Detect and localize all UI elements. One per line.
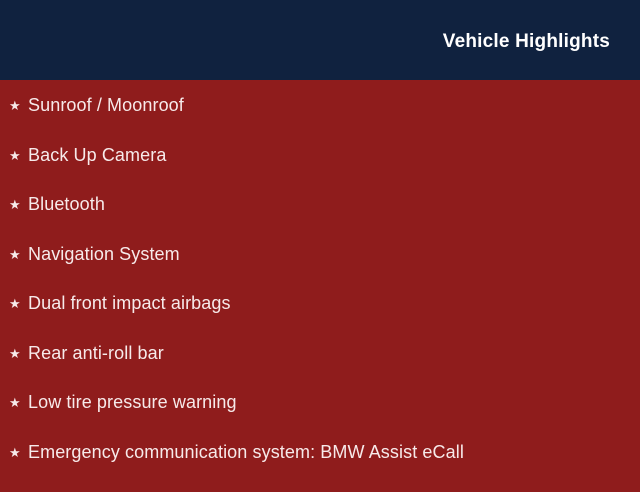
star-bullet-icon: ★ (9, 248, 28, 261)
star-bullet-icon: ★ (9, 198, 28, 211)
list-item: ★ Navigation System (0, 245, 640, 295)
highlight-label: Rear anti-roll bar (28, 344, 164, 362)
highlight-label: Emergency communication system: BMW Assi… (28, 443, 464, 461)
highlight-label: Sunroof / Moonroof (28, 96, 184, 114)
highlight-label: Dual front impact airbags (28, 294, 231, 312)
list-item: ★ Rear anti-roll bar (0, 344, 640, 394)
highlight-label: Back Up Camera (28, 146, 166, 164)
list-item: ★ Low tire pressure warning (0, 393, 640, 443)
highlight-label: Bluetooth (28, 195, 105, 213)
list-item: ★ Bluetooth (0, 195, 640, 245)
page-title: Vehicle Highlights (443, 32, 610, 51)
highlight-label: Navigation System (28, 245, 180, 263)
list-item: ★ Sunroof / Moonroof (0, 96, 640, 146)
star-bullet-icon: ★ (9, 347, 28, 360)
slide-header: Vehicle Highlights (0, 0, 640, 80)
vehicle-highlights-slide: Vehicle Highlights ★ Sunroof / Moonroof … (0, 0, 640, 480)
star-bullet-icon: ★ (9, 149, 28, 162)
star-bullet-icon: ★ (9, 297, 28, 310)
highlight-label: Low tire pressure warning (28, 393, 237, 411)
slide-body: ★ Sunroof / Moonroof ★ Back Up Camera ★ … (0, 80, 640, 480)
list-item: ★ Back Up Camera (0, 146, 640, 196)
vehicle-highlights-list: ★ Sunroof / Moonroof ★ Back Up Camera ★ … (0, 96, 640, 492)
star-bullet-icon: ★ (9, 446, 28, 459)
star-bullet-icon: ★ (9, 396, 28, 409)
list-item: ★ Dual front impact airbags (0, 294, 640, 344)
star-bullet-icon: ★ (9, 99, 28, 112)
list-item: ★ Emergency communication system: BMW As… (0, 443, 640, 492)
